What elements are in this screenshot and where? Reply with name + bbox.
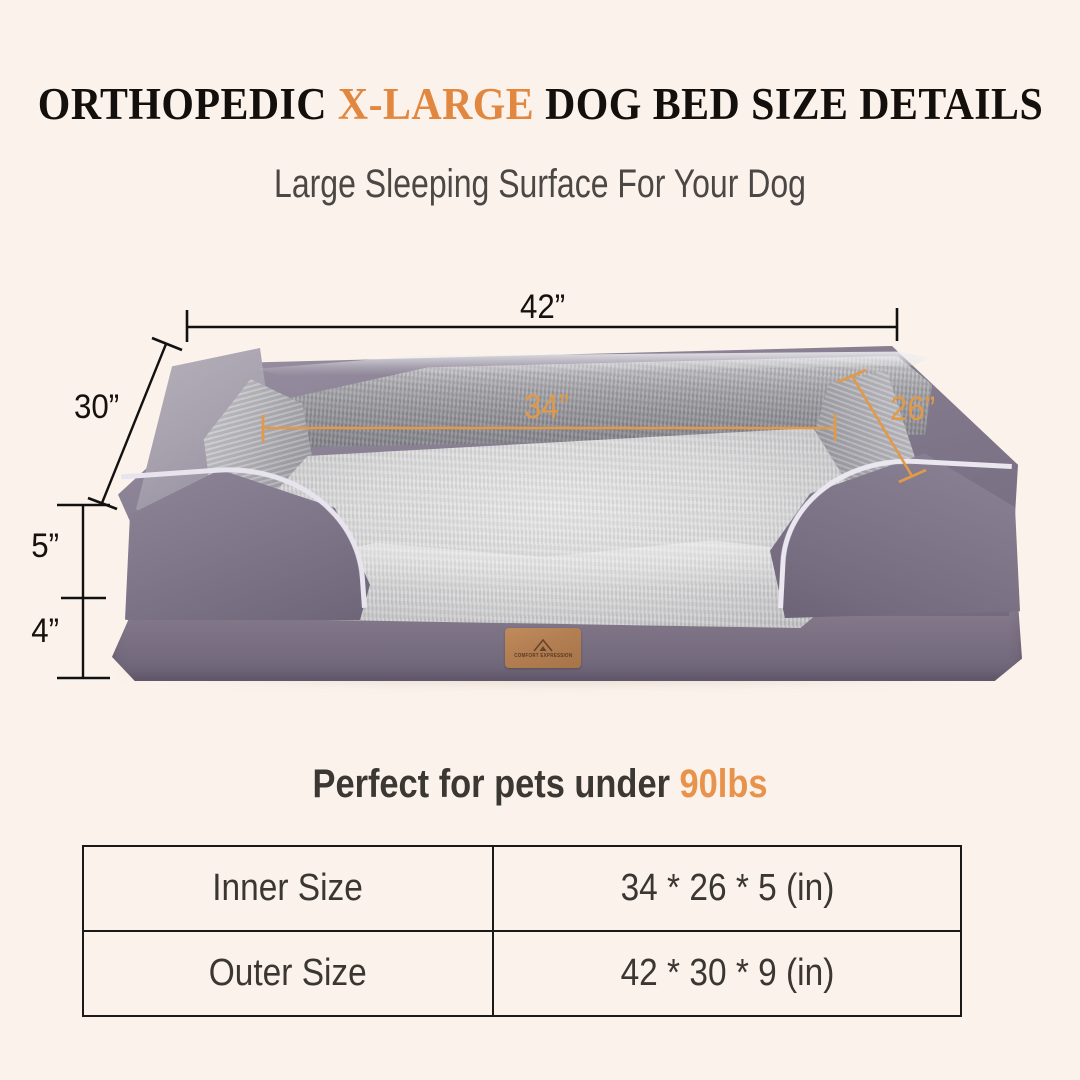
infographic-stage: ORTHOPEDIC X-LARGE DOG BED SIZE DETAILS …	[0, 0, 1080, 1080]
brand-patch-text: COMFORT EXPRESSION	[514, 653, 572, 659]
dimension-label-outer-width: 42”	[520, 288, 565, 327]
tagline-highlight: 90lbs	[680, 762, 768, 806]
outer-size-value: 42 * 30 * 9 (in)	[620, 952, 834, 995]
inner-size-value: 34 * 26 * 5 (in)	[620, 867, 834, 910]
table-cell-value: 42 * 30 * 9 (in)	[493, 931, 961, 1016]
table-cell-label: Outer Size	[83, 931, 493, 1016]
dimension-label-inner-depth: 26”	[890, 390, 935, 429]
page-subtitle: Large Sleeping Surface For Your Dog	[108, 162, 972, 207]
dimension-label-outer-depth: 30”	[74, 388, 119, 427]
title-suffix: DOG BED SIZE DETAILS	[534, 79, 1043, 129]
title-highlight: X-LARGE	[338, 79, 534, 129]
tagline-prefix: Perfect for pets under	[313, 762, 680, 806]
dimension-label-bolster-height: 5”	[31, 527, 59, 566]
title-prefix: ORTHOPEDIC	[38, 79, 338, 129]
house-logo-icon	[530, 637, 556, 652]
table-row: Inner Size 34 * 26 * 5 (in)	[83, 846, 961, 931]
page-title: ORTHOPEDIC X-LARGE DOG BED SIZE DETAILS	[38, 78, 1042, 130]
table-row: Outer Size 42 * 30 * 9 (in)	[83, 931, 961, 1016]
dimension-label-inner-width: 34”	[524, 388, 569, 427]
brand-patch: COMFORT EXPRESSION	[505, 628, 581, 668]
pet-weight-tagline: Perfect for pets under 90lbs	[76, 762, 1005, 807]
inner-size-label: Inner Size	[213, 867, 364, 910]
outer-size-label: Outer Size	[209, 952, 367, 995]
dimension-label-base-height: 4”	[31, 612, 59, 651]
size-details-table: Inner Size 34 * 26 * 5 (in) Outer Size 4…	[82, 845, 962, 1017]
table-cell-label: Inner Size	[83, 846, 493, 931]
table-cell-value: 34 * 26 * 5 (in)	[493, 846, 961, 931]
